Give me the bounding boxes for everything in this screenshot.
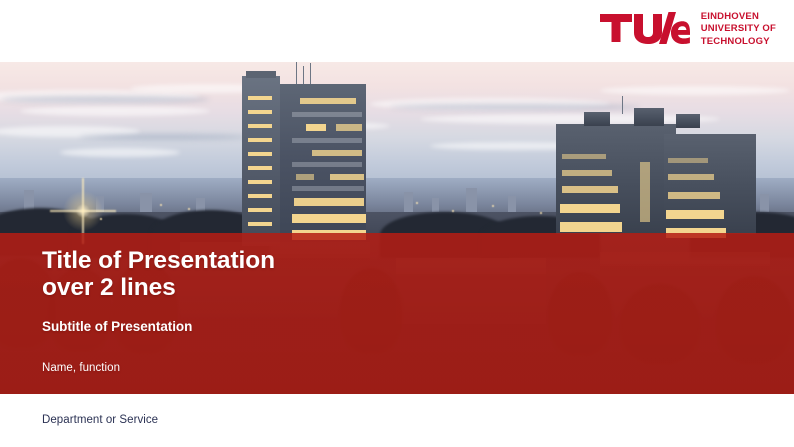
footer-department-label: Department or Service	[42, 414, 158, 426]
page-title: Title of Presentation over 2 lines	[42, 248, 602, 301]
tower-roof	[246, 71, 276, 78]
slide-subtitle: Subtitle of Presentation	[42, 301, 602, 334]
tower-core	[242, 76, 280, 246]
right-building-roof-unit	[584, 112, 610, 126]
right-building-roof-unit	[634, 108, 664, 126]
right-building-roof-unit	[676, 114, 700, 128]
wordmark-line-2: UNIVERSITY OF	[701, 23, 776, 34]
wordmark-line-1: EINDHOVEN	[701, 11, 776, 22]
slide-text-block: Title of Presentation over 2 lines Subti…	[42, 248, 602, 374]
presenter-name-function: Name, function	[42, 334, 602, 374]
street-light-flare	[60, 188, 106, 234]
wordmark-line-3: TECHNOLOGY	[701, 36, 776, 47]
right-building-block	[664, 134, 756, 234]
header-bar: EINDHOVEN UNIVERSITY OF TECHNOLOGY	[0, 0, 794, 62]
tue-logo[interactable]: EINDHOVEN UNIVERSITY OF TECHNOLOGY	[598, 8, 776, 48]
footer-bar: Department or Service	[0, 394, 794, 447]
right-building-block	[556, 124, 676, 234]
tue-wordmark-text: EINDHOVEN UNIVERSITY OF TECHNOLOGY	[701, 9, 776, 47]
presentation-slide: EINDHOVEN UNIVERSITY OF TECHNOLOGY	[0, 0, 794, 447]
tue-wordmark-icon	[598, 8, 690, 48]
